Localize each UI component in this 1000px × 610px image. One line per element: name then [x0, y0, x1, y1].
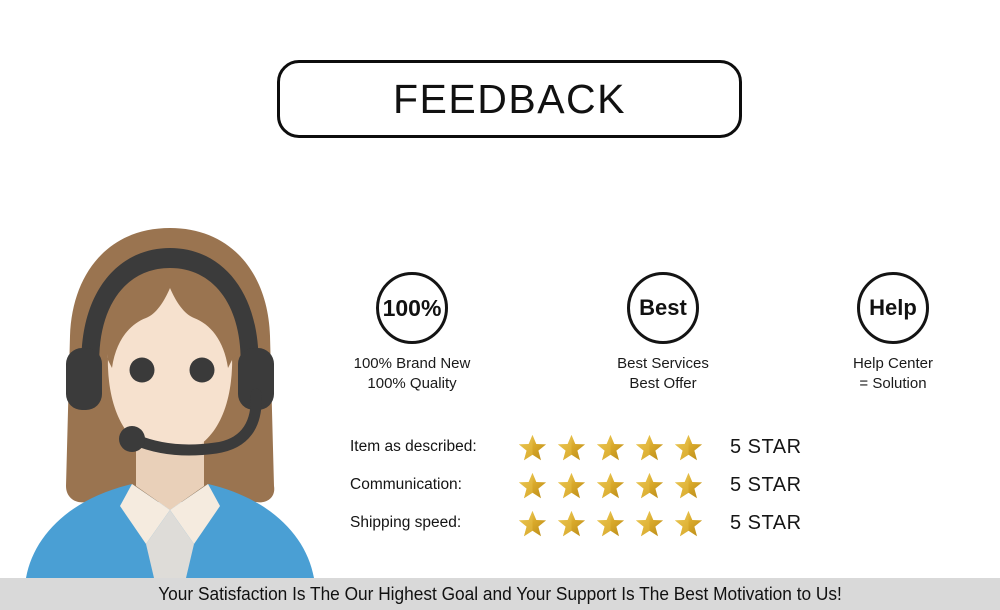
page-title: FEEDBACK: [393, 79, 626, 120]
star-icon: [674, 509, 703, 538]
feedback-graphic: FEEDBACK: [0, 0, 1000, 610]
ratings-table: Item as described: 5 STAR Communication:…: [350, 428, 860, 542]
rating-value-item-as-described: 5 STAR: [730, 436, 802, 459]
star-icon: [635, 471, 664, 500]
eye-right: [190, 358, 215, 383]
star-icon: [557, 433, 586, 462]
badge-quality-caption: 100% Brand New 100% Quality: [312, 354, 512, 394]
rating-row: Item as described: 5 STAR: [350, 428, 860, 466]
badge-help: Help Help Center = Solution: [793, 272, 993, 394]
badge-help-circle: Help: [857, 272, 929, 344]
star-icon: [596, 433, 625, 462]
badge-quality: 100% 100% Brand New 100% Quality: [312, 272, 512, 394]
eye-left: [130, 358, 155, 383]
badge-services-circle: Best: [627, 272, 699, 344]
star-icon: [518, 471, 547, 500]
feedback-title-box: FEEDBACK: [277, 60, 742, 138]
rating-label-shipping-speed: Shipping speed:: [350, 514, 518, 532]
operator-illustration: [20, 218, 320, 578]
rating-stars-shipping-speed: [518, 509, 703, 538]
badge-help-caption-line1: Help Center: [793, 354, 993, 374]
badge-services-caption: Best Services Best Offer: [563, 354, 763, 394]
badge-help-caption: Help Center = Solution: [793, 354, 993, 394]
star-icon: [674, 433, 703, 462]
star-icon: [518, 509, 547, 538]
star-icon: [557, 471, 586, 500]
rating-label-communication: Communication:: [350, 476, 518, 494]
badge-services-circle-label: Best: [639, 297, 687, 319]
badge-quality-caption-line1: 100% Brand New: [312, 354, 512, 374]
rating-row: Shipping speed: 5 STAR: [350, 504, 860, 542]
star-icon: [596, 471, 625, 500]
earcup-left: [66, 348, 102, 410]
badge-help-circle-label: Help: [869, 297, 917, 319]
star-icon: [635, 433, 664, 462]
rating-value-shipping-speed: 5 STAR: [730, 512, 802, 535]
badge-quality-circle: 100%: [376, 272, 448, 344]
bottom-banner: Your Satisfaction Is The Our Highest Goa…: [0, 578, 1000, 610]
rating-stars-item-as-described: [518, 433, 703, 462]
star-icon: [635, 509, 664, 538]
badge-services: Best Best Services Best Offer: [563, 272, 763, 394]
rating-label-item-as-described: Item as described:: [350, 438, 518, 456]
mic-tip: [119, 426, 145, 452]
rating-row: Communication: 5 STAR: [350, 466, 860, 504]
rating-stars-communication: [518, 471, 703, 500]
badge-help-caption-line2: = Solution: [793, 374, 993, 394]
rating-value-communication: 5 STAR: [730, 474, 802, 497]
badge-services-caption-line1: Best Services: [563, 354, 763, 374]
badge-services-caption-line2: Best Offer: [563, 374, 763, 394]
badge-quality-caption-line2: 100% Quality: [312, 374, 512, 394]
star-icon: [674, 471, 703, 500]
badge-quality-circle-label: 100%: [383, 297, 442, 320]
banner-text: Your Satisfaction Is The Our Highest Goa…: [158, 584, 842, 605]
star-icon: [557, 509, 586, 538]
star-icon: [518, 433, 547, 462]
star-icon: [596, 509, 625, 538]
